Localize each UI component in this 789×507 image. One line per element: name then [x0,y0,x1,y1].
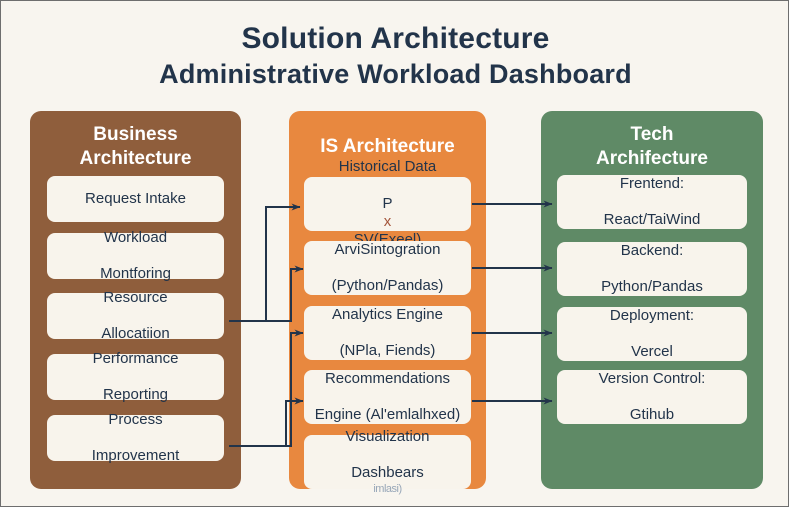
card-visualization-dashboards-line2: Dashbears [310,464,465,482]
card-frontend-line1: Frentend: [563,175,741,193]
card-data-integration[interactable]: ArviSintogration (Python/Pandas) [304,241,471,295]
card-deployment[interactable]: Deployment: Vercel [557,307,747,361]
card-request-intake-line1: Request Intake [53,190,218,208]
page-title: Solution Architecture [1,21,789,56]
card-version-control-line2: Gtihub [563,406,741,424]
card-deployment-line1: Deployment: [563,307,741,325]
card-visualization-dashboards-artifact: imlasi) [310,483,465,496]
card-process-improvement-line2: Improvement [53,447,218,465]
column-header-tech-line1: Tech [541,123,763,147]
card-performance-reporting[interactable]: Performance Reporting [47,354,224,400]
column-header-business-line2: Architecture [30,147,241,171]
card-resource-allocation-line2: Allocatiion [53,325,218,343]
column-header-is-line1: IS Architecture [289,135,486,159]
card-performance-reporting-line1: Performance [53,350,218,368]
card-deployment-line2: Vercel [563,343,741,361]
card-visualization-dashboards[interactable]: Visualization Dashbears imlasi) [304,435,471,489]
page-subtitle: Administrative Workload Dashboard [1,58,789,90]
column-header-tech-line2: Archifecture [541,147,763,171]
card-recommendations-engine[interactable]: Recommendations Engine (Al'emlalhxed) [304,370,471,424]
card-request-intake[interactable]: Request Intake [47,176,224,222]
card-analytics-engine-line1: Analytics Engine [310,306,465,324]
diagram-title: Solution Architecture Administrative Wor… [1,21,789,91]
card-frontend[interactable]: Frentend: React/TaiWind [557,175,747,229]
card-data-integration-line1: ArviSintogration [310,241,465,259]
column-header-is: IS Architecture [289,135,486,159]
card-historical-data[interactable]: Historical Data PxSV(Exeel) [304,177,471,231]
card-visualization-dashboards-line1: Visualization [310,428,465,446]
historical-data-glitch-glyph: x [310,213,465,231]
card-version-control[interactable]: Version Control: Gtihub [557,370,747,424]
card-version-control-line1: Version Control: [563,370,741,388]
card-recommendations-engine-line1: Recommendations [310,370,465,388]
column-header-business-line1: Business [30,123,241,147]
card-backend[interactable]: Backend: Python/Pandas [557,242,747,296]
card-backend-line2: Python/Pandas [563,278,741,296]
card-analytics-engine[interactable]: Analytics Engine (NPla, Fiends) [304,306,471,360]
column-business-architecture[interactable]: Business Architecture Request Intake Wor… [30,111,241,489]
card-process-improvement-line1: Process [53,411,218,429]
card-performance-reporting-line2: Reporting [53,386,218,404]
column-header-tech: Tech Archifecture [541,123,763,171]
card-resource-allocation-line1: Resource [53,289,218,307]
card-workload-monitoring[interactable]: Workload Montforing [47,233,224,279]
card-process-improvement[interactable]: Process Improvement [47,415,224,461]
column-tech-architecture[interactable]: Tech Archifecture Frentend: React/TaiWin… [541,111,763,489]
card-resource-allocation[interactable]: Resource Allocatiion [47,293,224,339]
column-is-architecture[interactable]: IS Architecture Historical Data PxSV(Exe… [289,111,486,489]
diagram-canvas: Solution Architecture Administrative Wor… [0,0,789,507]
card-backend-line1: Backend: [563,242,741,260]
card-historical-data-line1: Historical Data [310,158,465,176]
card-data-integration-line2: (Python/Pandas) [310,277,465,295]
card-workload-monitoring-line2: Montforing [53,265,218,283]
card-analytics-engine-line2: (NPla, Fiends) [310,342,465,360]
card-frontend-line2: React/TaiWind [563,211,741,229]
card-workload-monitoring-line1: Workload [53,229,218,247]
card-recommendations-engine-line2: Engine (Al'emlalhxed) [310,406,465,424]
column-header-business: Business Architecture [30,123,241,171]
